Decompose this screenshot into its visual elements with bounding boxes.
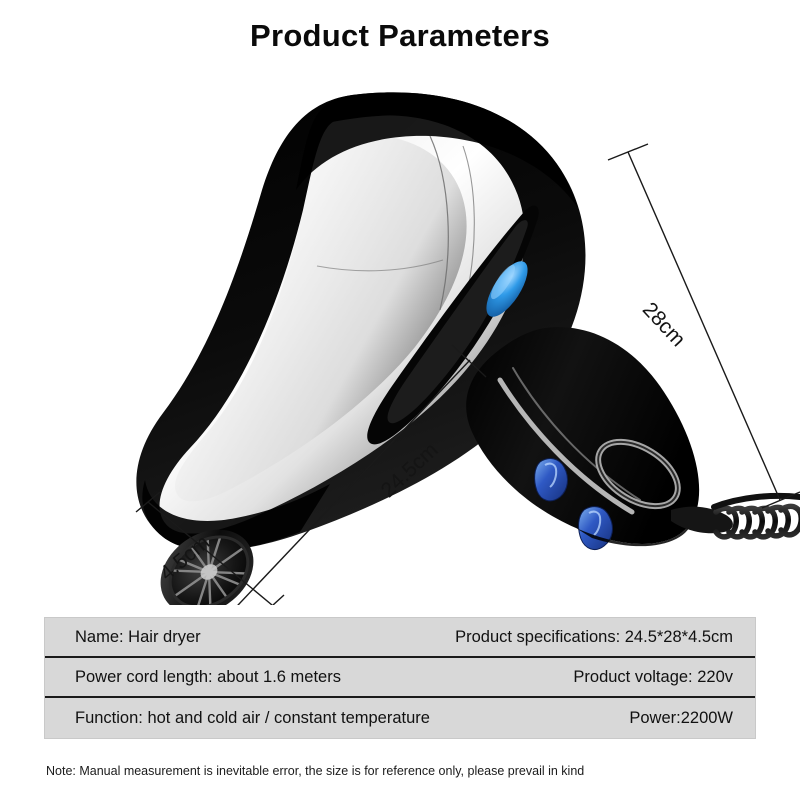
spec-power-label: Power:2200W — [629, 709, 755, 728]
spec-cord-length-label: Power cord length: about 1.6 meters — [45, 668, 573, 687]
table-row: Function: hot and cold air / constant te… — [45, 698, 755, 738]
dimension-label-height: 28cm — [638, 298, 690, 351]
spec-function-label: Function: hot and cold air / constant te… — [45, 709, 629, 728]
dimension-nozzle-tick-end — [261, 595, 284, 605]
measurement-note: Note: Manual measurement is inevitable e… — [46, 764, 584, 778]
table-row: Power cord length: about 1.6 meters Prod… — [45, 658, 755, 698]
dryer-handle — [466, 327, 699, 549]
spec-specifications-label: Product specifications: 24.5*28*4.5cm — [455, 628, 755, 647]
product-parameters-page: Product Parameters — [0, 0, 800, 800]
spec-voltage-label: Product voltage: 220v — [573, 668, 755, 687]
speed-switch[interactable] — [579, 507, 613, 550]
heat-switch[interactable] — [535, 459, 568, 501]
spec-name-label: Name: Hair dryer — [45, 628, 455, 647]
specification-table: Name: Hair dryer Product specifications:… — [44, 617, 756, 739]
table-row: Name: Hair dryer Product specifications:… — [45, 618, 755, 658]
page-title: Product Parameters — [0, 18, 800, 54]
dimension-height-tick-start — [608, 144, 648, 160]
product-illustration: 24.5cm 28cm 4.5cm — [0, 60, 800, 605]
hair-dryer-illustration: 24.5cm 28cm 4.5cm — [0, 60, 800, 605]
